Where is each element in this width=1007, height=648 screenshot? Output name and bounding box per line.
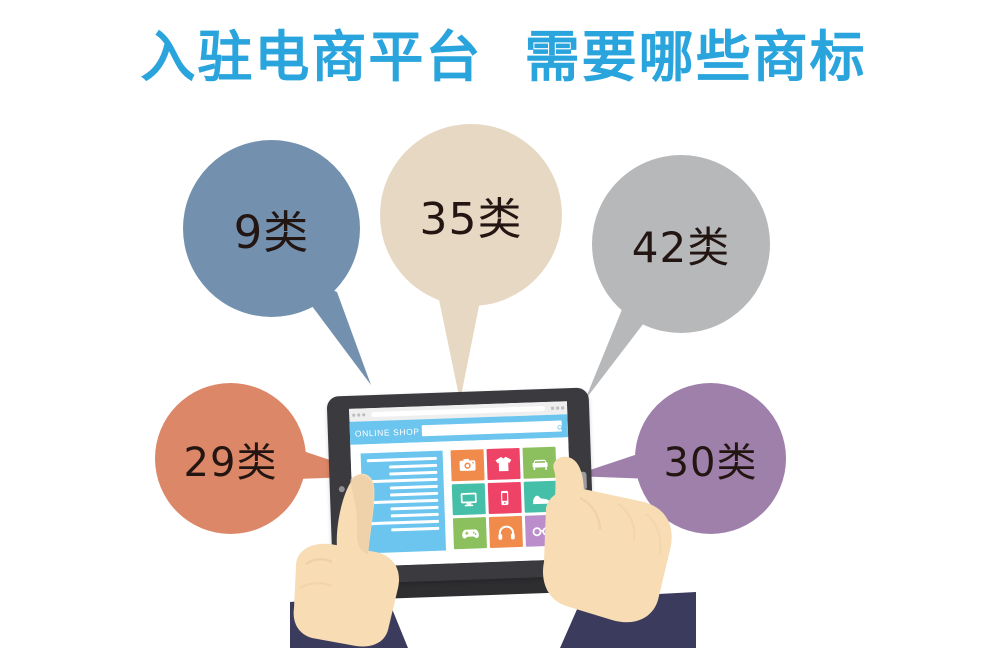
right-palm	[543, 489, 672, 622]
browser-dot-icon[interactable]	[362, 413, 365, 416]
browser-dot-icon[interactable]	[357, 413, 360, 416]
bubble-label: 9类	[183, 140, 360, 317]
speech-bubble-class-9[interactable]: 9类	[183, 140, 360, 317]
maximize-icon[interactable]	[556, 407, 559, 410]
browser-dot-icon[interactable]	[352, 414, 355, 417]
bubble-label: 42类	[592, 155, 770, 333]
close-icon[interactable]	[561, 406, 564, 409]
speech-bubble-class-29[interactable]: 29类	[155, 383, 306, 534]
page-title: 入驻电商平台 需要哪些商标	[0, 22, 1007, 92]
right-hand	[520, 458, 735, 648]
sidebar-line	[389, 464, 437, 469]
speech-bubble-class-35[interactable]: 35类	[380, 124, 562, 306]
speech-bubble-class-42[interactable]: 42类	[592, 155, 770, 333]
sidebar-line	[367, 457, 437, 462]
magnifier-icon[interactable]	[557, 424, 564, 431]
bubble-label: 35类	[380, 124, 562, 306]
search-input[interactable]	[422, 420, 562, 436]
shop-logo-text: ONLINE SHOP	[355, 426, 420, 438]
bubble-label: 29类	[155, 383, 306, 534]
left-hand	[290, 470, 500, 648]
minimize-icon[interactable]	[551, 407, 554, 410]
poster-canvas: 入驻电商平台 需要哪些商标 9类 35类 42类	[0, 0, 1007, 648]
